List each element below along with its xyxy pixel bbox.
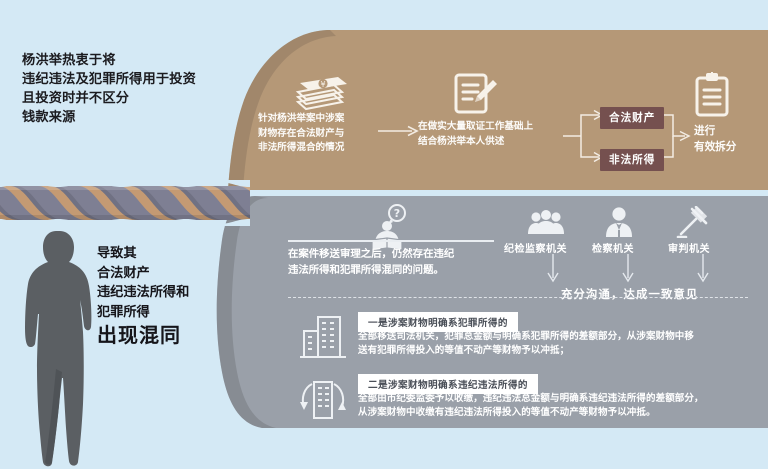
- group-people-icon: [527, 210, 565, 236]
- measure-2-body: 全部由市纪委监委予以收缴，违纪违法总金额与明确系违纪违法所得的差额部分， 从涉案…: [358, 392, 768, 420]
- measure-2-body-line-1: 全部由市纪委监委予以收缴，违纪违法总金额与明确系违纪违法所得的差额部分，: [358, 392, 768, 406]
- brown-step1-line-2: 财物存在合法财产与: [258, 127, 344, 142]
- measure-1-body: 全部移送司法机关，犯罪总金额与明确系犯罪所得的差额部分，从涉案财物中移 送有犯罪…: [358, 330, 768, 358]
- agency-label-procuratorate: 检察机关: [592, 240, 634, 255]
- svg-text:?: ?: [394, 207, 400, 220]
- brown-step3-text: 进行 有效拆分: [694, 123, 736, 155]
- brown-step2-line-2: 结合杨洪举本人供述: [418, 135, 533, 150]
- brown-step2-line-1: 在做实大量取证工作基础上: [418, 120, 533, 135]
- gavel-icon: [676, 206, 712, 238]
- measure-1-heading: 一是涉案财物明确系犯罪所得的: [358, 312, 518, 332]
- document-pen-icon: [452, 71, 500, 117]
- brown-step3-line-1: 进行: [694, 123, 736, 139]
- brown-step1-line-1: 针对杨洪举案中涉案: [258, 112, 344, 127]
- money-stack-icon: ¥: [292, 72, 354, 116]
- consensus-text: 充分沟通，达成一致意见: [561, 286, 698, 302]
- agency-label-court: 审判机关: [668, 240, 710, 255]
- problem-line-2: 违法所得和犯罪所得混同的问题。: [288, 263, 454, 279]
- measure-1-body-line-2: 送有犯罪所得投入的等值不动产等财物予以冲抵；: [358, 344, 768, 358]
- problem-divider-line: [288, 240, 494, 242]
- gray-band: ? 在案件移送审理之后，仍然存在违纪 违法所得和犯罪所得混同的问题。 纪检监察机…: [0, 196, 768, 469]
- problem-line-1: 在案件移送审理之后，仍然存在违纪: [288, 247, 454, 263]
- arrow-right-1-icon: [378, 124, 420, 138]
- problem-text: 在案件移送审理之后，仍然存在违纪 违法所得和犯罪所得混同的问题。: [288, 247, 454, 278]
- agency-label-discipline: 纪检监察机关: [504, 240, 567, 255]
- legal-property-tag[interactable]: 合法财产: [600, 107, 664, 129]
- person-question-book-icon: ?: [362, 204, 418, 252]
- officer-person-icon: [604, 206, 634, 238]
- brown-step1-line-3: 非法所得混合的情况: [258, 141, 344, 156]
- measures-dashed-divider: [288, 297, 748, 298]
- brown-step3-line-2: 有效拆分: [694, 139, 736, 155]
- illegal-gains-tag[interactable]: 非法所得: [600, 149, 664, 171]
- measure-2-body-line-2: 从涉案财物中收缴有违纪违法所得投入的等值不动产等财物予以冲抵。: [358, 406, 768, 420]
- svg-text:¥: ¥: [320, 80, 325, 89]
- infographic-root: 杨洪举热衷于将 违纪违法及犯罪所得用于投资 且投资时并不区分 钱款来源 导致其 …: [0, 0, 768, 469]
- building-icon: [300, 314, 346, 360]
- brown-step2-text: 在做实大量取证工作基础上 结合杨洪举本人供述: [418, 120, 533, 149]
- brown-band: ¥ 针对杨洪举案中涉案 财物存在合法财产与 非法所得混合的情况 在做实大量取证工…: [0, 0, 768, 196]
- measure-1-body-line-1: 全部移送司法机关，犯罪总金额与明确系犯罪所得的差额部分，从涉案财物中移: [358, 330, 768, 344]
- brown-step1-text: 针对杨洪举案中涉案 财物存在合法财产与 非法所得混合的情况: [258, 112, 344, 156]
- measure-2-heading: 二是涉案财物明确系违纪违法所得的: [358, 374, 538, 394]
- agency-down-arrows: [500, 254, 740, 286]
- building-recycle-icon: [298, 376, 348, 424]
- clipboard-icon: [692, 72, 732, 118]
